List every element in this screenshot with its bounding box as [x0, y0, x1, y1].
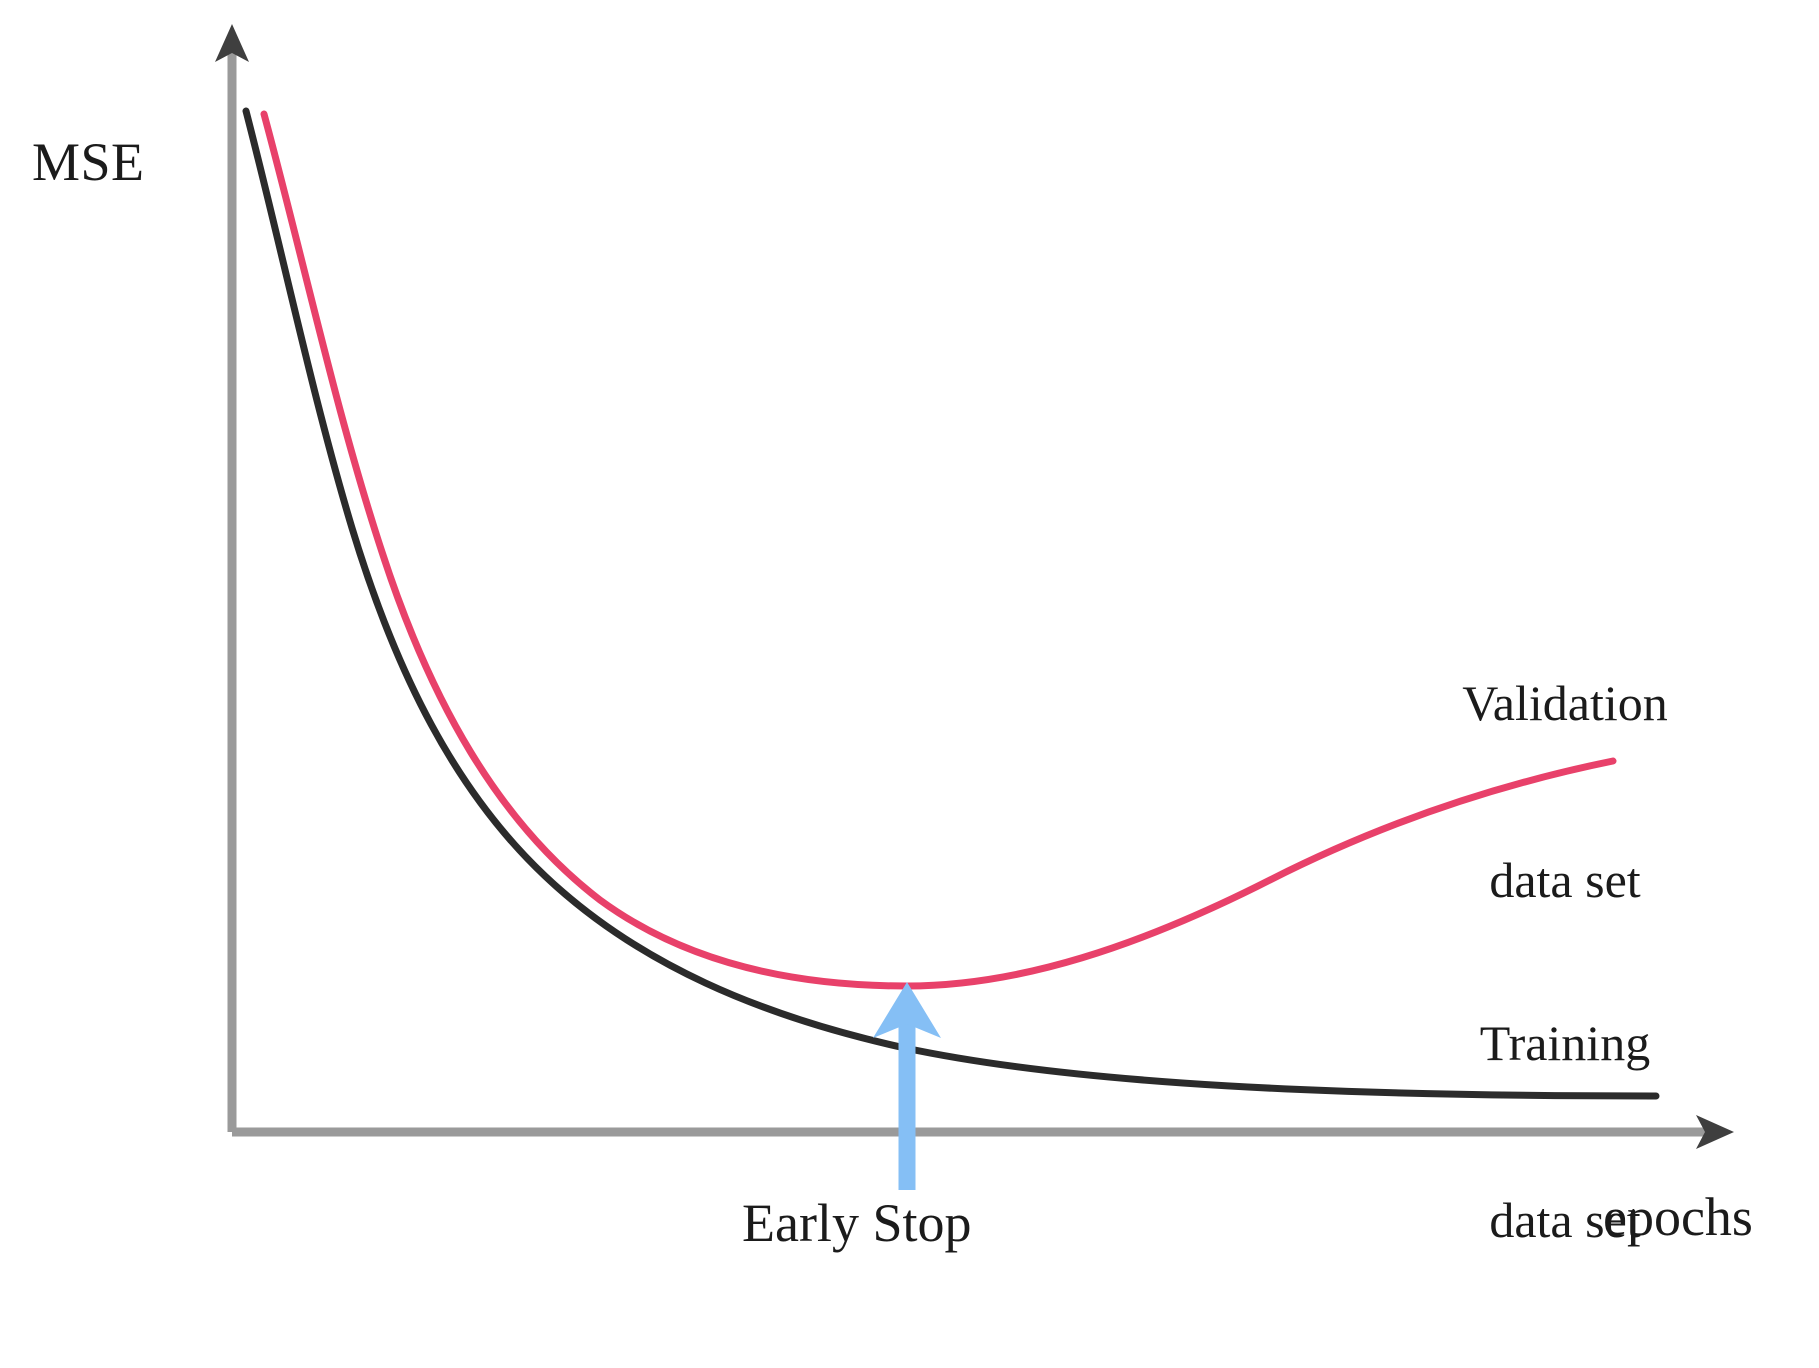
legend-label-training: Training data set: [1410, 896, 1720, 1368]
figure-container: MSE epochs Early Stop Validation data se…: [0, 0, 1819, 1285]
legend-label-validation-line1: Validation: [1410, 674, 1720, 733]
y-axis: [215, 24, 249, 1132]
legend-label-training-line1: Training: [1410, 1014, 1720, 1073]
legend-label-training-line2: data set: [1410, 1191, 1720, 1250]
early-stop-label: Early Stop: [742, 1192, 971, 1256]
early-stop-arrow[interactable]: [873, 982, 941, 1190]
y-axis-title: MSE: [32, 131, 145, 195]
